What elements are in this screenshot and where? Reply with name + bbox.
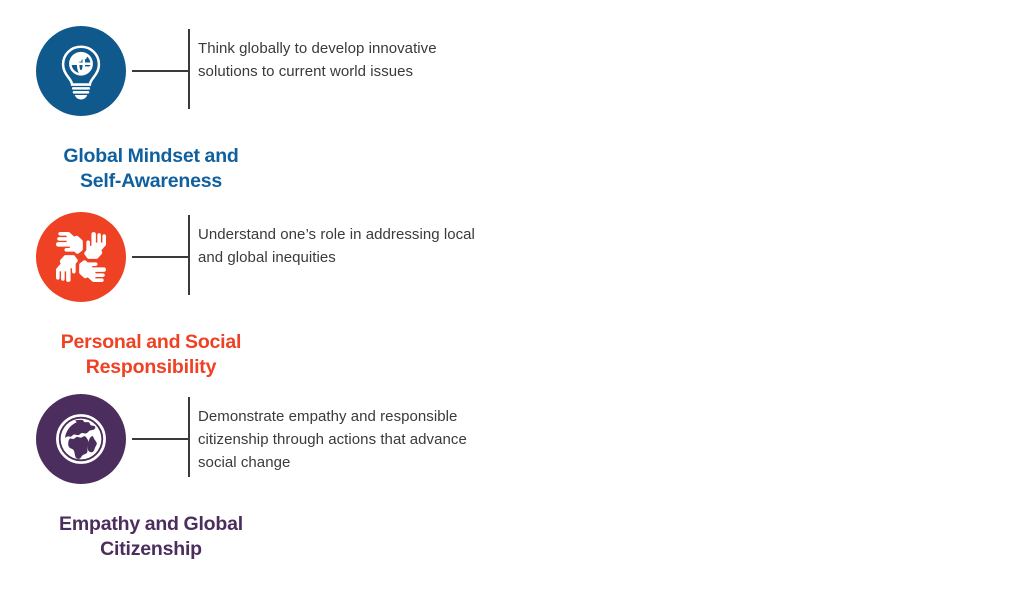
connector-vertical-rule [188,29,190,109]
connector-line [126,394,198,484]
card-top-row: Understand one’s role in addressing loca… [36,212,500,316]
four-hands-icon [36,212,126,302]
connector-vertical-rule [188,397,190,477]
competency-heading-line-1: Personal and Social [36,330,266,355]
card-top-row: Think globally to develop innovative sol… [36,26,500,130]
competency-description: Demonstrate empathy and responsible citi… [198,394,500,474]
competency-heading: Personal and Social Responsibility [36,330,266,380]
competency-card-strategic-communication: Cooperate and engage effectively in comp… [500,212,1022,394]
competency-card-global-mindset: Think globally to develop innovative sol… [0,26,500,212]
competency-card-personal-social-responsibility: Understand one’s role in addressing loca… [0,212,500,394]
competency-heading-line-2: Responsibility [36,355,266,380]
competency-heading-line-2: Self-Awareness [36,169,266,194]
connector-line [126,212,198,302]
competency-card-recognize-diverse-perspectives: Enhanced capacity to understand and inte… [500,26,1022,212]
competency-card-intercultural-intelligence: Increased ability to work collaborativel… [500,394,1022,580]
competency-heading: Global Mindset and Self-Awareness [36,144,266,194]
competency-grid: Think globally to develop innovative sol… [0,0,1022,580]
connector-horizontal-rule [132,256,190,258]
connector-horizontal-rule [132,70,190,72]
connector-line [126,26,198,116]
connector-vertical-rule [188,215,190,295]
infographic-root: Think globally to develop innovative sol… [0,0,1022,600]
globe-icon [36,394,126,484]
connector-horizontal-rule [132,438,190,440]
competency-card-empathy-global-citizenship: Demonstrate empathy and responsible citi… [0,394,500,580]
competency-heading-line-1: Empathy and Global [36,512,266,537]
competency-heading-line-1: Global Mindset and [36,144,266,169]
competency-heading: Empathy and Global Citizenship [36,512,266,562]
competency-heading-line-2: Citizenship [36,537,266,562]
competency-description: Understand one’s role in addressing loca… [198,212,500,269]
lightbulb-globe-icon [36,26,126,116]
card-top-row: Demonstrate empathy and responsible citi… [36,394,500,498]
competency-description: Think globally to develop innovative sol… [198,26,500,83]
